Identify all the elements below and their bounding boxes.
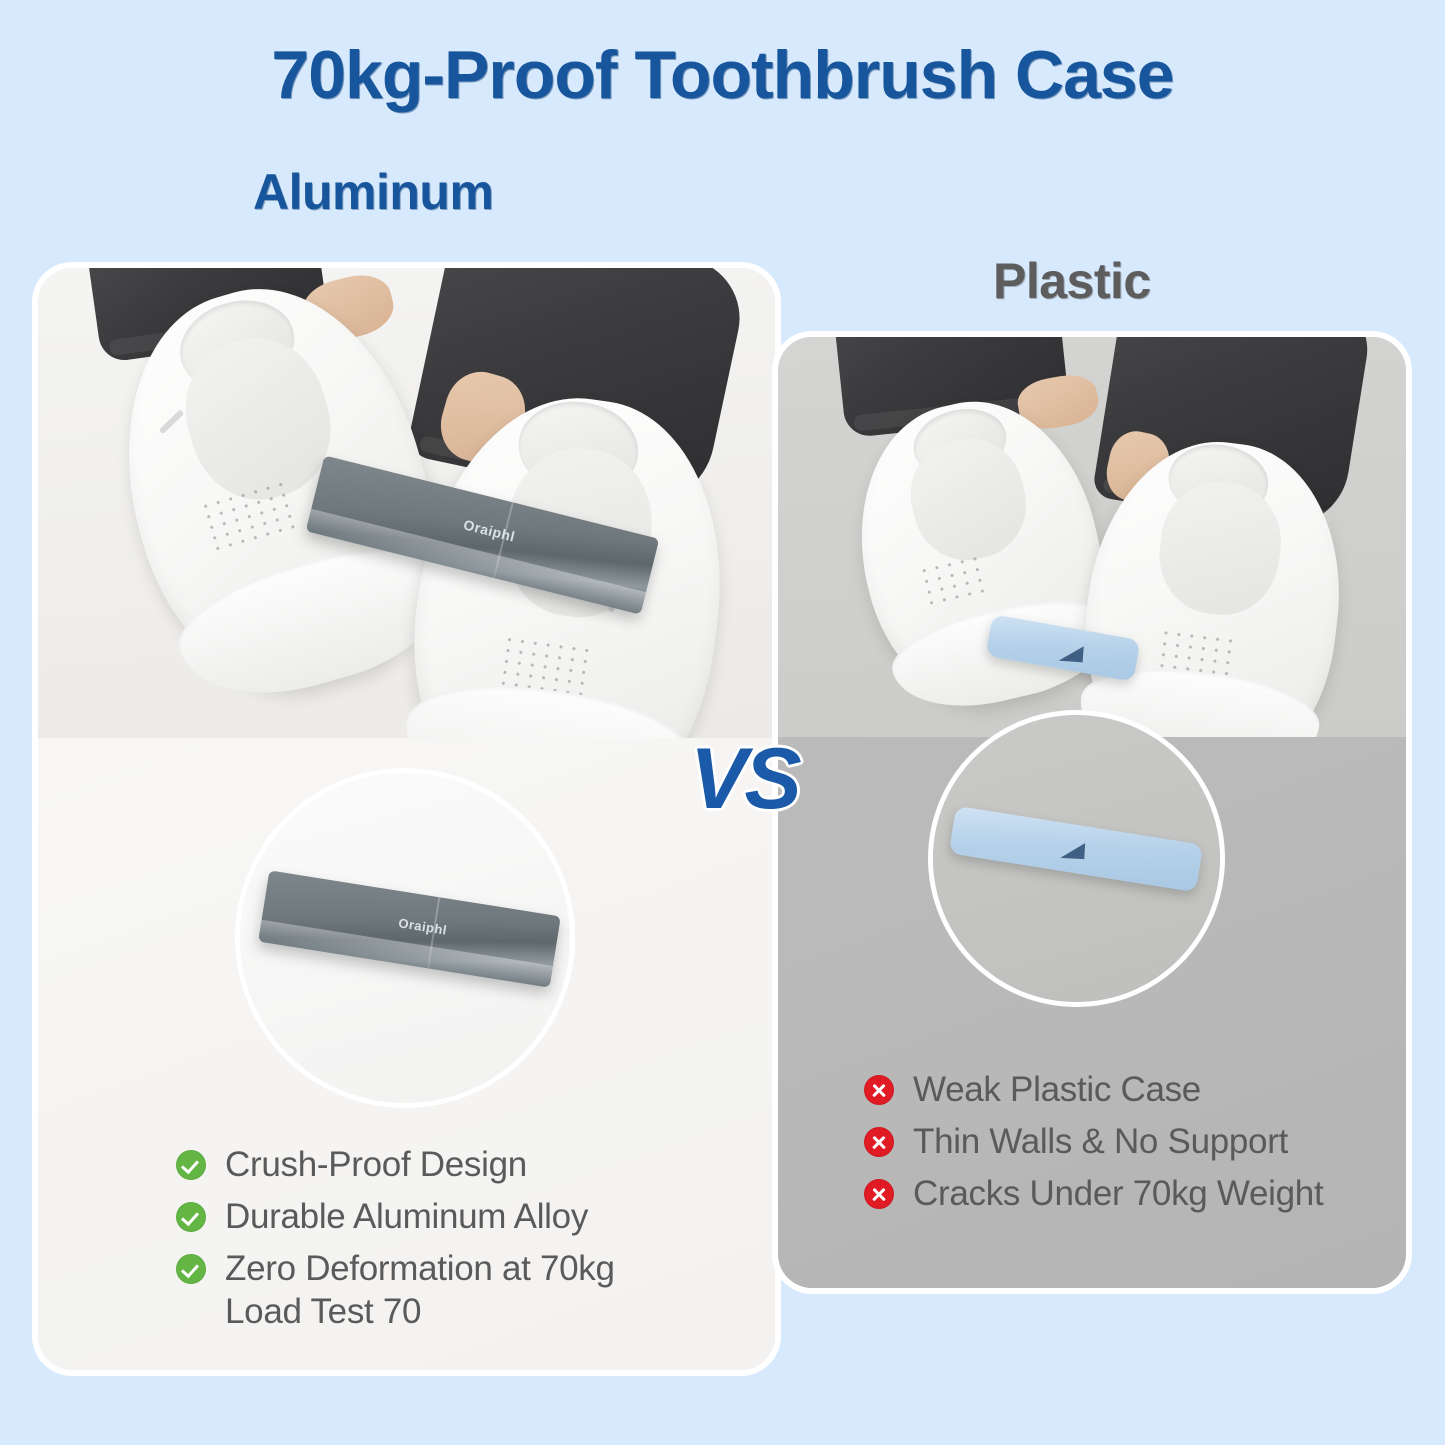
check-circle-icon xyxy=(176,1254,206,1284)
plastic-case-closeup xyxy=(949,806,1203,893)
plastic-label: Plastic xyxy=(993,252,1151,310)
shoe-perforations xyxy=(916,551,994,608)
feature-item: Thin Walls & No Support xyxy=(864,1120,1384,1163)
plastic-panel: Weak Plastic Case Thin Walls & No Suppor… xyxy=(778,337,1406,1288)
feature-item: Cracks Under 70kg Weight xyxy=(864,1172,1384,1215)
feature-item: Crush-Proof Design xyxy=(176,1143,736,1186)
brand-label: Oraiphl xyxy=(397,916,448,938)
aluminum-case-inset: Oraiphl xyxy=(240,773,570,1103)
cross-circle-icon xyxy=(864,1127,894,1157)
plastic-photo xyxy=(778,337,1406,737)
feature-label: Thin Walls & No Support xyxy=(913,1120,1288,1163)
aluminum-photo: Oraiphl xyxy=(38,268,775,738)
cross-circle-icon xyxy=(864,1075,894,1105)
aluminum-panel: Oraiphl Oraiphl Crush-Proof Design Durab… xyxy=(38,268,775,1370)
plastic-feature-list: Weak Plastic Case Thin Walls & No Suppor… xyxy=(864,1068,1384,1224)
feature-label: Crush-Proof Design xyxy=(225,1143,527,1186)
feature-label: Durable Aluminum Alloy xyxy=(225,1195,588,1238)
feature-label: Cracks Under 70kg Weight xyxy=(913,1172,1323,1215)
crack-icon xyxy=(1060,842,1085,859)
feature-label: Zero Deformation at 70kg Load Test 70 xyxy=(225,1247,655,1333)
shoe-lace-panel xyxy=(1153,475,1288,621)
shoe-perforations xyxy=(198,479,297,557)
feature-item: Zero Deformation at 70kg Load Test 70 xyxy=(176,1247,736,1333)
aluminum-label: Aluminum xyxy=(253,163,493,221)
check-circle-icon xyxy=(176,1150,206,1180)
feature-item: Weak Plastic Case xyxy=(864,1068,1384,1111)
feature-label: Weak Plastic Case xyxy=(913,1068,1201,1111)
feature-item: Durable Aluminum Alloy xyxy=(176,1195,736,1238)
check-circle-icon xyxy=(176,1202,206,1232)
crack-icon xyxy=(1059,644,1084,662)
aluminum-case-closeup: Oraiphl xyxy=(258,870,561,987)
vs-badge: VS xyxy=(690,730,799,829)
plastic-case-inset xyxy=(933,715,1220,1002)
cross-circle-icon xyxy=(864,1179,894,1209)
page-title: 70kg-Proof Toothbrush Case xyxy=(0,36,1445,114)
shoe-lace-stripe xyxy=(159,409,185,434)
aluminum-feature-list: Crush-Proof Design Durable Aluminum Allo… xyxy=(176,1143,736,1342)
